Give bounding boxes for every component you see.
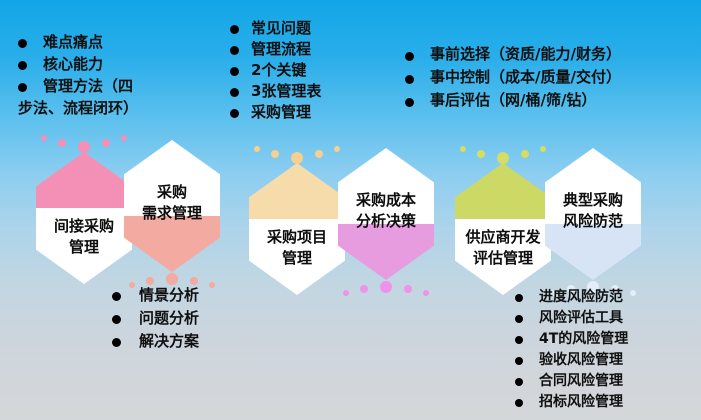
bullet-group-top-middle: 常见问题 管理流程 2个关键 3张管理表 采购管理 <box>230 18 321 123</box>
decorative-dot <box>271 150 279 158</box>
bullet-text: 管理方法（四 <box>43 76 133 96</box>
bullet-text: 招标风险管理 <box>539 393 623 412</box>
bullet-text: 合同风险管理 <box>539 372 623 391</box>
hexagon-node-3[interactable]: 采购项目 管理 <box>249 163 345 295</box>
hexagon-label: 采购 需求管理 <box>124 182 220 224</box>
decorative-dot-arc-5 <box>448 131 558 171</box>
decorative-dot <box>41 135 47 141</box>
decorative-dot <box>404 285 412 293</box>
bullet-dot-icon <box>112 338 121 347</box>
infographic-canvas: 难点痛点 核心能力 管理方法（四 步法、流程闭环） 常见问题 管理流程 2个关键… <box>0 0 701 420</box>
decorative-dot <box>315 150 323 158</box>
bullet-text: 3张管理表 <box>251 81 321 101</box>
bullet-text: 采购管理 <box>251 102 311 122</box>
list-item: 事后评估（网/桶/筛/钻） <box>405 90 621 111</box>
hexagon-label: 间接采购 管理 <box>36 216 132 258</box>
bullet-dot-icon <box>515 294 523 302</box>
list-item: 合同风险管理 <box>515 372 628 391</box>
list-item: 4T的风险管理 <box>515 330 628 349</box>
list-item: 解决方案 <box>112 331 199 351</box>
bullet-text: 事后评估（网/桶/筛/钻） <box>430 90 596 111</box>
hexagon-node-6[interactable]: 典型采购 风险防范 <box>545 148 641 280</box>
decorative-dot-arc-1 <box>29 120 139 160</box>
hexagon-accent-band <box>249 163 345 219</box>
list-item: 管理流程 <box>230 39 321 59</box>
decorative-dot <box>423 290 429 296</box>
list-item: 事前选择（资质/能力/财务） <box>405 44 621 65</box>
decorative-dot <box>477 150 485 158</box>
bullet-dot-icon <box>515 315 523 323</box>
bullet-dot-icon <box>515 399 523 407</box>
bullet-text: 问题分析 <box>139 308 199 328</box>
list-item: 常见问题 <box>230 18 321 38</box>
bullet-text: 验收风险管理 <box>539 351 623 370</box>
decorative-dot <box>78 141 90 153</box>
decorative-dot-arc-3 <box>242 131 352 171</box>
list-item: 进度风险防范 <box>515 288 628 307</box>
bullet-text: 事中控制（成本/质量/交付） <box>430 67 621 88</box>
decorative-dot <box>521 150 529 158</box>
list-item: 管理方法（四 <box>18 76 138 96</box>
bullet-dot-icon <box>405 75 414 84</box>
bullet-text: 2个关键 <box>251 60 306 80</box>
list-item: 验收风险管理 <box>515 351 628 370</box>
hexagon-accent-band <box>124 216 220 272</box>
bullet-dot-icon <box>18 61 27 70</box>
decorative-dot <box>166 273 178 285</box>
decorative-dot <box>102 139 110 147</box>
bullet-group-top-left: 难点痛点 核心能力 管理方法（四 步法、流程闭环） <box>18 32 138 118</box>
decorative-dot <box>146 277 154 285</box>
decorative-dot <box>209 282 215 288</box>
decorative-dot-arc-4 <box>331 278 441 318</box>
list-item: 招标风险管理 <box>515 393 628 412</box>
hexagon-node-1[interactable]: 间接采购 管理 <box>36 152 132 284</box>
bullet-group-bottom-left: 情景分析 问题分析 解决方案 <box>112 285 199 354</box>
decorative-dot <box>291 152 303 164</box>
bullet-dot-icon <box>515 378 523 386</box>
list-item: 情景分析 <box>112 285 199 305</box>
hexagon-accent-band <box>338 224 434 280</box>
bullet-group-bottom-right: 进度风险防范 风险评估工具 4T的风险管理 验收风险管理 合同风险管理 招标风险… <box>515 288 628 414</box>
hexagon-label: 采购项目 管理 <box>249 227 345 269</box>
hexagon-accent-band <box>545 224 641 280</box>
bullet-text: 4T的风险管理 <box>539 330 628 349</box>
decorative-dot <box>190 277 198 285</box>
bullet-dot-icon <box>230 109 239 118</box>
bullet-text: 常见问题 <box>251 18 311 38</box>
bullet-dot-icon <box>405 52 414 61</box>
bullet-dot-icon <box>112 292 121 301</box>
list-item: 3张管理表 <box>230 81 321 101</box>
bullet-dot-icon <box>515 336 523 344</box>
decorative-dot <box>254 146 260 152</box>
bullet-text: 情景分析 <box>139 285 199 305</box>
decorative-dot <box>630 290 636 296</box>
hexagon-accent-band <box>36 152 132 208</box>
hexagon-label: 典型采购 风险防范 <box>545 190 641 232</box>
bullet-text: 管理流程 <box>251 39 311 59</box>
bullet-text: 事前选择（资质/能力/财务） <box>430 44 621 65</box>
decorative-dot <box>380 281 392 293</box>
bullet-text: 核心能力 <box>43 54 103 74</box>
bullet-group-top-right: 事前选择（资质/能力/财务） 事中控制（成本/质量/交付） 事后评估（网/桶/筛… <box>405 44 621 113</box>
list-item: 核心能力 <box>18 54 138 74</box>
bullet-dot-icon <box>230 88 239 97</box>
hexagon-label: 采购成本 分析决策 <box>338 190 434 232</box>
bullet-text: 风险评估工具 <box>539 309 623 328</box>
bullet-text: 难点痛点 <box>43 32 103 52</box>
list-item: 问题分析 <box>112 308 199 328</box>
list-item: 事中控制（成本/质量/交付） <box>405 67 621 88</box>
bullet-text-continuation: 步法、流程闭环） <box>18 98 138 118</box>
decorative-dot <box>360 285 368 293</box>
list-item: 2个关键 <box>230 60 321 80</box>
hexagon-node-5[interactable]: 供应商开发 评估管理 <box>455 163 551 295</box>
bullet-dot-icon <box>515 357 523 365</box>
hexagon-accent-band <box>455 163 551 219</box>
bullet-text: 进度风险防范 <box>539 288 623 307</box>
list-item: 风险评估工具 <box>515 309 628 328</box>
bullet-dot-icon <box>18 39 27 48</box>
decorative-dot <box>497 152 509 164</box>
bullet-text: 解决方案 <box>139 331 199 351</box>
bullet-dot-icon <box>230 46 239 55</box>
list-item: 难点痛点 <box>18 32 138 52</box>
bullet-dot-icon <box>405 98 414 107</box>
bullet-dot-icon <box>230 25 239 34</box>
decorative-dot <box>343 290 349 296</box>
list-item: 采购管理 <box>230 102 321 122</box>
hexagon-node-2[interactable]: 采购 需求管理 <box>124 140 220 272</box>
bullet-dot-icon <box>18 83 27 92</box>
hexagon-label: 供应商开发 评估管理 <box>455 227 551 269</box>
bullet-dot-icon <box>112 315 121 324</box>
decorative-dot <box>460 146 466 152</box>
hexagon-node-4[interactable]: 采购成本 分析决策 <box>338 148 434 280</box>
bullet-dot-icon <box>230 67 239 76</box>
decorative-dot <box>58 139 66 147</box>
